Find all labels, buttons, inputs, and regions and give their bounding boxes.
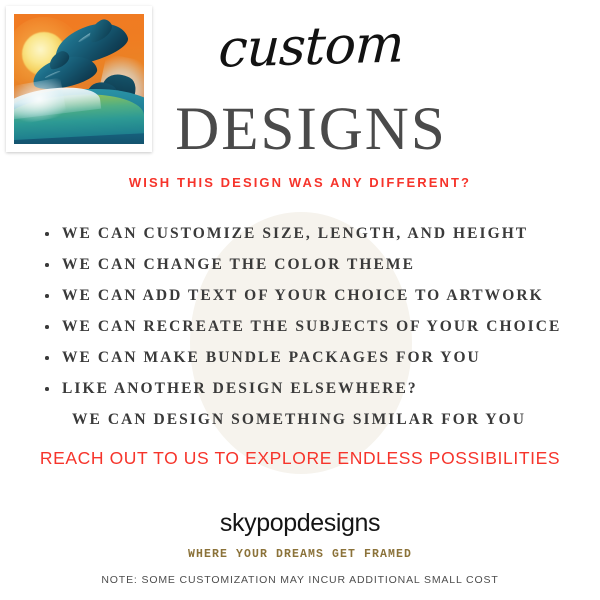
list-item: WE CAN CHANGE THE COLOR THEME xyxy=(42,249,582,280)
list-item: LIKE ANOTHER DESIGN ELSEWHERE? xyxy=(42,373,582,404)
artwork-canvas-frame[interactable] xyxy=(6,6,152,152)
subtitle-question: WISH THIS DESIGN WAS ANY DIFFERENT? xyxy=(0,175,600,190)
list-item: WE CAN CUSTOMIZE SIZE, LENGTH, AND HEIGH… xyxy=(42,218,582,249)
list-item: WE CAN RECREATE THE SUBJECTS OF YOUR CHO… xyxy=(42,311,582,342)
call-to-action-text: REACH OUT TO US TO EXPLORE ENDLESS POSSI… xyxy=(0,448,600,469)
list-item: WE CAN ADD TEXT OF YOUR CHOICE TO ARTWOR… xyxy=(42,280,582,311)
listing-graphic: custom DESIGNS WISH THIS DESIGN WAS ANY … xyxy=(0,0,600,600)
customization-feature-list: WE CAN CUSTOMIZE SIZE, LENGTH, AND HEIGH… xyxy=(42,218,582,435)
dolphins-sunset-artwork xyxy=(14,14,144,144)
footer-note: NOTE: SOME CUSTOMIZATION MAY INCUR ADDIT… xyxy=(0,574,600,586)
list-item-continuation: WE CAN DESIGN SOMETHING SIMILAR FOR YOU xyxy=(42,404,582,435)
brand-name: skypopdesigns xyxy=(0,509,600,538)
list-item: WE CAN MAKE BUNDLE PACKAGES FOR YOU xyxy=(42,342,582,373)
brand-tagline: WHERE YOUR DREAMS GET FRAMED xyxy=(0,548,600,561)
